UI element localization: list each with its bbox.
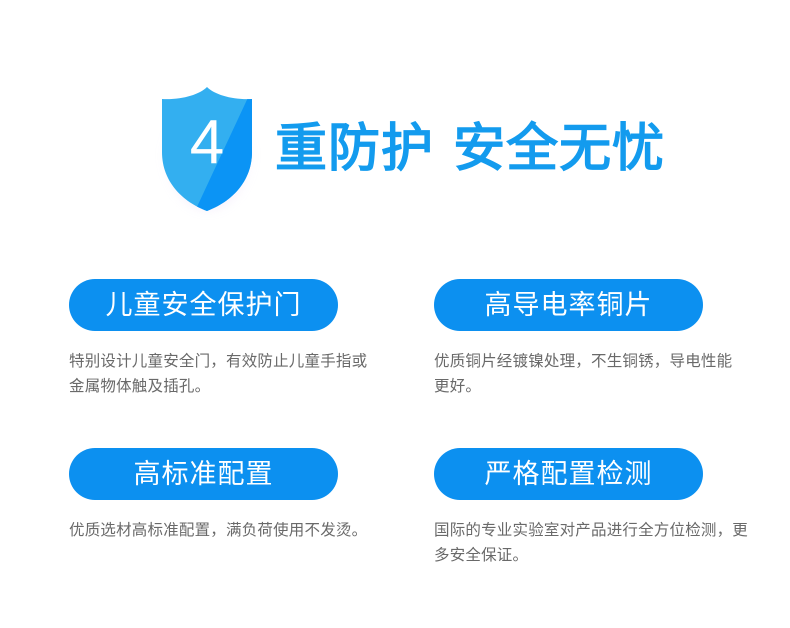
header-inner: 4 重防护 安全无忧 — [155, 84, 665, 214]
feature-pill[interactable]: 高导电率铜片 — [434, 279, 703, 331]
shield-number: 4 — [155, 84, 259, 214]
feature-description: 特别设计儿童安全门，有效防止儿童手指或金属物体触及插孔。 — [69, 349, 369, 399]
feature-pill[interactable]: 严格配置检测 — [434, 448, 703, 500]
feature-description: 优质选材高标准配置，满负荷使用不发烫。 — [69, 518, 369, 543]
shield-badge: 4 — [155, 84, 259, 214]
feature-row: 儿童安全保护门 特别设计儿童安全门，有效防止儿童手指或金属物体触及插孔。 高导电… — [0, 232, 790, 401]
feature-pill[interactable]: 儿童安全保护门 — [69, 279, 338, 331]
feature-pill[interactable]: 高标准配置 — [69, 448, 338, 500]
feature-pill-label: 儿童安全保护门 — [106, 292, 302, 319]
feature-row: 高标准配置 优质选材高标准配置，满负荷使用不发烫。 严格配置检测 国际的专业实验… — [0, 401, 790, 570]
feature-pill-label: 高标准配置 — [134, 461, 274, 488]
feature-grid: 儿童安全保护门 特别设计儿童安全门，有效防止儿童手指或金属物体触及插孔。 高导电… — [0, 232, 790, 570]
feature-description: 优质铜片经镀镍处理，不生铜锈，导电性能更好。 — [434, 349, 734, 399]
page-header: 4 重防护 安全无忧 — [0, 0, 790, 232]
feature-item-high-standard-config: 高标准配置 优质选材高标准配置，满负荷使用不发烫。 — [69, 401, 369, 543]
feature-pill-label: 高导电率铜片 — [485, 292, 653, 319]
feature-item-copper-sheet: 高导电率铜片 优质铜片经镀镍处理，不生铜锈，导电性能更好。 — [434, 232, 734, 399]
page-title: 重防护 安全无忧 — [275, 123, 665, 175]
feature-description: 国际的专业实验室对产品进行全方位检测，更多安全保证。 — [434, 518, 752, 568]
feature-pill-label: 严格配置检测 — [485, 461, 653, 488]
feature-item-strict-testing: 严格配置检测 国际的专业实验室对产品进行全方位检测，更多安全保证。 — [434, 401, 734, 568]
feature-item-child-safety-door: 儿童安全保护门 特别设计儿童安全门，有效防止儿童手指或金属物体触及插孔。 — [69, 232, 369, 399]
